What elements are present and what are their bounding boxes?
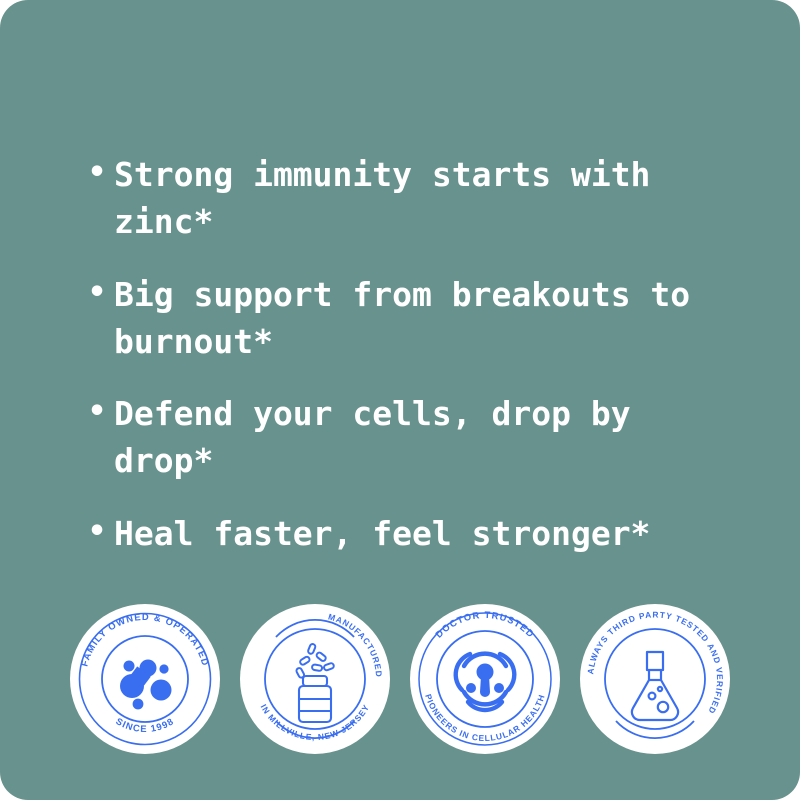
list-item: • Heal faster, feel stronger* <box>88 511 778 558</box>
list-item: • Defend your cells, drop by drop* <box>88 391 778 485</box>
list-item: • Big support from breakouts to burnout* <box>88 272 778 366</box>
bullet-icon: • <box>88 391 114 434</box>
bullet-icon: • <box>88 511 114 554</box>
badge-manufactured-in-millville: MANUFACTURED IN MILLVILLE, NEW JERSEY <box>240 604 390 754</box>
benefits-list: • Strong immunity starts with zinc* • Bi… <box>88 152 778 558</box>
benefit-text: Heal faster, feel stronger* <box>114 511 714 558</box>
trust-badge-row: FAMILY OWNED & OPERATED SINCE 1998 <box>70 603 730 755</box>
badge-disc <box>240 604 390 754</box>
bullet-icon: • <box>88 152 114 195</box>
product-benefits-card: • Strong immunity starts with zinc* • Bi… <box>0 0 800 800</box>
badge-third-party-tested: ALWAYS THIRD PARTY TESTED AND VERIFIED <box>580 604 730 754</box>
badge-doctor-trusted: DOCTOR TRUSTED PIONEERS IN CELLULAR HEAL… <box>410 604 560 754</box>
badge-family-owned: FAMILY OWNED & OPERATED SINCE 1998 <box>70 604 220 754</box>
list-item: • Strong immunity starts with zinc* <box>88 152 778 246</box>
bullet-icon: • <box>88 272 114 315</box>
benefit-text: Big support from breakouts to burnout* <box>114 272 714 366</box>
benefit-text: Defend your cells, drop by drop* <box>114 391 714 485</box>
benefit-text: Strong immunity starts with zinc* <box>114 152 714 246</box>
